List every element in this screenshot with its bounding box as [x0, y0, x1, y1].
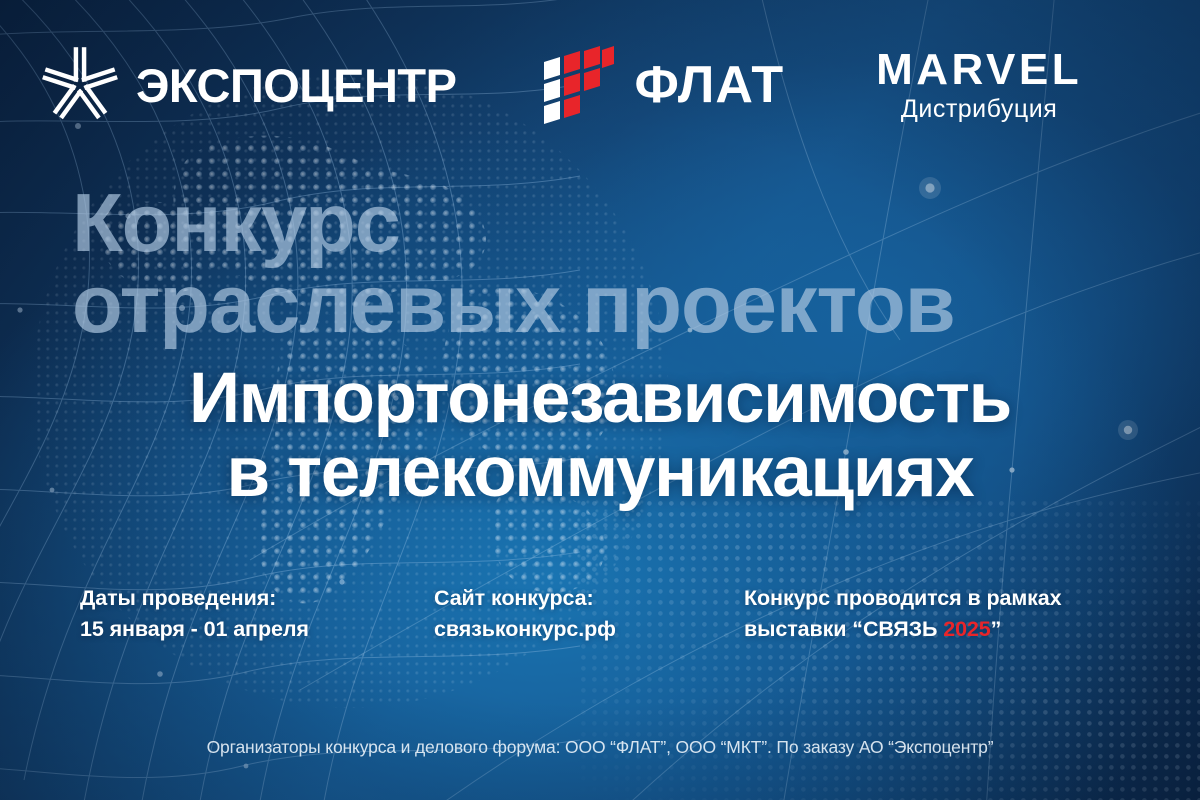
- info-site-label: Сайт конкурса:: [434, 583, 616, 614]
- logo-marvel: MARVEL Дистрибуция: [876, 48, 1082, 122]
- info-row: Даты проведения: 15 января - 01 апреля С…: [0, 583, 1200, 653]
- flat-block-icon: [540, 46, 616, 124]
- logo-flat: ФЛАТ: [540, 46, 784, 124]
- flat-wordmark: ФЛАТ: [634, 59, 784, 111]
- expocentre-star-icon: [38, 43, 122, 127]
- info-exhibition-line-1: Конкурс проводится в рамках: [744, 583, 1062, 614]
- info-exhibition: Конкурс проводится в рамках выставки “СВ…: [744, 583, 1062, 644]
- info-dates-value: 15 января - 01 апреля: [80, 614, 309, 645]
- marvel-subtitle: Дистрибуция: [901, 97, 1057, 122]
- logo-expocentre: ЭКСПОЦЕНТР: [38, 43, 456, 127]
- info-dates: Даты проведения: 15 января - 01 апреля: [80, 583, 309, 644]
- footer-organisers: Организаторы конкурса и делового форума:…: [0, 737, 1200, 758]
- kicker-line-1: Конкурс: [0, 183, 1200, 264]
- exhibition-name-prefix: выставки “СВЯЗЬ: [744, 617, 943, 641]
- exhibition-name-suffix: ”: [991, 617, 1002, 641]
- marvel-wordmark: MARVEL: [876, 48, 1082, 92]
- info-site: Сайт конкурса: связьконкурс.рф: [434, 583, 616, 644]
- info-exhibition-line-2: выставки “СВЯЗЬ 2025”: [744, 614, 1062, 645]
- promo-banner: ЭКСПОЦЕНТР ФЛАТ: [0, 0, 1200, 800]
- kicker-line-2: отраслевых проектов: [0, 264, 1200, 345]
- info-dates-label: Даты проведения:: [80, 583, 309, 614]
- exhibition-year: 2025: [943, 617, 990, 641]
- title-line-1: Импортонезависимость: [0, 362, 1200, 436]
- info-site-value[interactable]: связьконкурс.рф: [434, 614, 616, 645]
- logo-bar: ЭКСПОЦЕНТР ФЛАТ: [0, 30, 1200, 140]
- title-line-2: в телекоммуникациях: [0, 436, 1200, 510]
- expocentre-wordmark: ЭКСПОЦЕНТР: [136, 62, 456, 109]
- headline-block: Конкурс отраслевых проектов Импортонезав…: [0, 183, 1200, 510]
